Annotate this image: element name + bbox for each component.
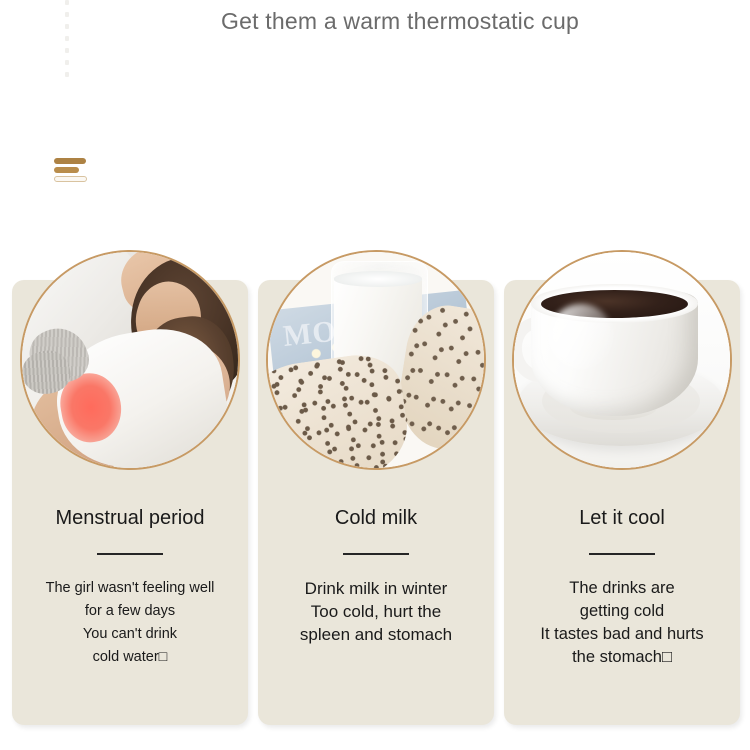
card-text-block: Menstrual period The girl wasn't feeling…: [12, 505, 248, 669]
card-title: Cold milk: [258, 505, 494, 531]
rail-dot: [65, 0, 69, 5]
desc-line: for a few days: [18, 600, 242, 623]
card-title: Let it cool: [504, 505, 740, 531]
page-headline: Get them a warm thermostatic cup: [0, 8, 750, 35]
desc-line: The drinks are: [510, 577, 734, 600]
rail-dot: [65, 60, 69, 65]
title-divider: [343, 553, 409, 555]
desc-line: cold water□: [18, 646, 242, 669]
card-text-block: Let it cool The drinks are getting cold …: [504, 505, 740, 669]
desc-line: Drink milk in winter: [264, 577, 488, 600]
desc-line: It tastes bad and hurts: [510, 623, 734, 646]
title-divider: [589, 553, 655, 555]
bar-middle: [54, 167, 79, 173]
desc-line: spleen and stomach: [264, 623, 488, 646]
card-cold-milk: MORE Cold milk Drink milk in winter Too …: [258, 250, 494, 728]
desc-line: The girl wasn't feeling well: [18, 577, 242, 600]
illustration-coffee-cup: [514, 252, 730, 468]
title-divider: [97, 553, 163, 555]
card-title: Menstrual period: [12, 505, 248, 531]
bar-bottom-outline: [54, 176, 87, 182]
card-text-block: Cold milk Drink milk in winter Too cold,…: [258, 505, 494, 646]
card-description: The girl wasn't feeling well for a few d…: [12, 577, 248, 669]
card-let-it-cool: Let it cool The drinks are getting cold …: [504, 250, 740, 728]
rail-dot: [65, 48, 69, 53]
photo-let-it-cool: [512, 250, 732, 470]
desc-line: Too cold, hurt the: [264, 600, 488, 623]
illustration-glass-of-milk: MORE: [268, 252, 484, 468]
feature-cards-row: Menstrual period The girl wasn't feeling…: [12, 250, 750, 750]
card-menstrual-period: Menstrual period The girl wasn't feeling…: [12, 250, 248, 728]
card-description: Drink milk in winter Too cold, hurt the …: [258, 577, 494, 646]
desc-line: getting cold: [510, 600, 734, 623]
card-description: The drinks are getting cold It tastes ba…: [504, 577, 740, 669]
photo-cold-milk: MORE: [266, 250, 486, 470]
desc-line: the stomach□: [510, 646, 734, 669]
list-bars-icon: [54, 158, 90, 188]
bar-top: [54, 158, 86, 164]
illustration-woman-in-bed: [22, 252, 238, 468]
desc-line: You can't drink: [18, 623, 242, 646]
photo-menstrual-period: [20, 250, 240, 470]
rail-dot: [65, 36, 69, 41]
rail-dot: [65, 72, 69, 77]
